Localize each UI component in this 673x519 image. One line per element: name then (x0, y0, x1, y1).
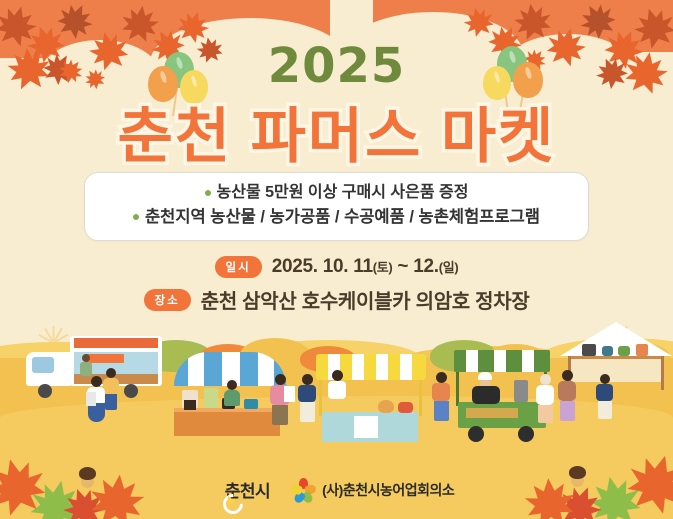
person-shopper (84, 376, 110, 428)
event-date-row: 일시 2025. 10. 11(토) ~ 12.(일) (0, 256, 673, 278)
event-place-row: 장소 춘천 삼악산 호수케이블카 의암호 정차장 (0, 285, 673, 314)
info-bullet-row-1: 농산물 5만원 이상 구매시 사은품 증정 (95, 181, 578, 205)
info-panel: 농산물 5만원 이상 구매시 사은품 증정 춘천지역 농산물 / 농가공품 / … (84, 172, 589, 241)
info-bullet-row-2: 춘천지역 농산물 / 농가공품 / 수공예품 / 농촌체험프로그램 (95, 205, 578, 230)
event-meta: 일시 2025. 10. 11(토) ~ 12.(일) 장소 춘천 삼악산 호수… (0, 256, 673, 321)
footer-logos: 춘천시 (사)춘천시농어업회의소 (0, 477, 673, 502)
bullet-dot-icon (205, 190, 211, 196)
date-badge: 일시 (215, 256, 262, 278)
logo-agriculture-council: (사)춘천시농어업회의소 (292, 478, 454, 502)
event-date-value: 2025. 10. 11(토) ~ 12.(일) (272, 256, 459, 278)
info-bullet-text-1: 농산물 5만원 이상 구매시 사은품 증정 (217, 181, 469, 205)
info-bullet-text-2: 춘천지역 농산물 / 농가공품 / 수공예품 / 농촌체험프로그램 (145, 205, 540, 230)
person-shopper (296, 374, 322, 428)
bullet-dot-icon (133, 214, 139, 220)
event-place-value: 춘천 삼악산 호수케이블카 의암호 정차장 (201, 285, 530, 314)
person-customer (430, 372, 456, 428)
place-badge: 장소 (144, 289, 191, 311)
logo-chuncheon-city: 춘천시 (219, 477, 270, 502)
person-visitor (556, 370, 582, 430)
poster-canvas: 2025 춘천 파머스 마켓 농산물 5만원 이상 구매시 사은품 증정 춘천지… (0, 0, 673, 519)
person-vendor (326, 370, 350, 418)
person-visitor (594, 374, 618, 426)
person-vendor (222, 380, 244, 424)
person-shopper (268, 374, 296, 430)
page-title: 춘천 파머스 마켓 (0, 88, 673, 175)
logo-agriculture-council-label: (사)춘천시농어업회의소 (322, 480, 454, 500)
agriculture-council-pinwheel-logo-icon (292, 478, 316, 502)
year-heading: 2025 (0, 38, 673, 94)
